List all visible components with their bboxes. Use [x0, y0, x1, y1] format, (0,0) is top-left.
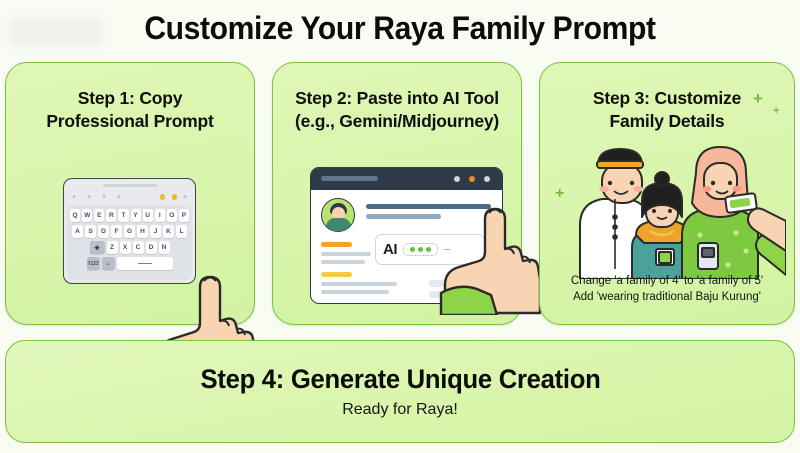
key-o[interactable]: O [167, 209, 177, 222]
step-card-3-caption: Change 'a family of 4' to 'a family of 5… [546, 273, 788, 306]
key-z[interactable]: Z [107, 241, 118, 254]
text-line-4 [321, 290, 389, 294]
sparkle-icon-2: + [773, 105, 779, 117]
key-g[interactable]: G [124, 225, 135, 238]
toolbar-plus-icon-2: + [87, 195, 92, 200]
avatar-body [326, 218, 351, 231]
sparkle-icon-1: + [753, 89, 763, 109]
mother-figure [682, 147, 758, 279]
key-e[interactable]: E [94, 209, 104, 222]
window-close-dot[interactable] [484, 176, 490, 182]
key-d2[interactable]: D [146, 241, 157, 254]
step-card-1-title: Step 1: Copy Professional Prompt [14, 87, 246, 133]
key-t[interactable]: T [118, 209, 128, 222]
browser-titlebar [311, 168, 502, 190]
text-line-3 [321, 282, 397, 286]
toolbar-yellow-dot-2 [172, 194, 178, 200]
toolbar-plus-icon-3: + [102, 195, 107, 200]
family-illustration [550, 139, 786, 279]
key-s[interactable]: S [85, 225, 96, 238]
step-card-3-title-line1: Step 3: Customize [593, 88, 741, 108]
key-n[interactable]: N [159, 241, 170, 254]
keyboard-row-2: A S D F G H J K L [70, 225, 189, 238]
toolbar-plus-icon-4: + [117, 195, 122, 200]
caption-line-2: Add 'wearing traditional Baju Kurung' [573, 291, 761, 303]
key-i[interactable]: I [155, 209, 165, 222]
browser-url-bar[interactable] [321, 176, 378, 181]
step-card-2[interactable]: Step 2: Paste into AI Tool (e.g., Gemini… [272, 62, 522, 325]
key-d[interactable]: D [98, 225, 109, 238]
step-4-title: Step 4: Generate Unique Creation [200, 364, 600, 395]
step-card-3-title: Step 3: Customize Family Details [548, 87, 786, 133]
pointing-hand-illustration-2 [421, 203, 541, 315]
steps-card-row: Step 1: Copy Professional Prompt + + + +… [0, 62, 800, 326]
phone [698, 243, 718, 269]
infographic-page: Customize Your Raya Family Prompt Step 1… [0, 0, 800, 453]
caption-line-1: Change 'a family of 4' to 'a family of 5… [571, 275, 763, 287]
key-u[interactable]: U [143, 209, 153, 222]
keyboard-row-1: Q W E R T Y U I O P [70, 209, 189, 222]
step-4-subtitle: Ready for Raya! [342, 401, 458, 419]
step-card-2-title: Step 2: Paste into AI Tool (e.g., Gemini… [281, 87, 513, 133]
step-card-1-title-line2: Professional Prompt [46, 111, 213, 131]
sparkle-icon-3: + [555, 185, 564, 203]
text-line-2 [321, 260, 365, 264]
accent-bar-yellow [321, 272, 352, 277]
toolbar-yellow-dot-1 [160, 194, 166, 200]
key-y[interactable]: Y [131, 209, 141, 222]
tablet-speaker [103, 184, 157, 187]
toolbar-plus-icon-1: + [72, 195, 77, 200]
key-c[interactable]: C [133, 241, 144, 254]
key-j[interactable]: J [150, 225, 161, 238]
key-r[interactable]: R [106, 209, 116, 222]
keyboard-toolbar: + + + + + [70, 192, 189, 202]
loading-dot-1 [410, 247, 415, 252]
keyboard-row-3: ❖ Z X C D N [70, 241, 189, 254]
step-card-1[interactable]: Step 1: Copy Professional Prompt + + + +… [5, 62, 255, 325]
step-4-banner[interactable]: Step 4: Generate Unique Creation Ready f… [5, 340, 795, 443]
emoji-icon[interactable]: ☺ [102, 257, 115, 270]
page-title: Customize Your Raya Family Prompt [24, 10, 776, 47]
cup [656, 249, 674, 265]
key-f[interactable]: F [111, 225, 122, 238]
numeric-key[interactable]: ?123 [87, 257, 100, 270]
window-minimize-dot[interactable] [454, 176, 460, 182]
avatar [321, 198, 355, 232]
step-card-1-title-line1: Step 1: Copy [78, 88, 183, 108]
window-maximize-dot[interactable] [469, 176, 475, 182]
key-l[interactable]: L [176, 225, 187, 238]
key-q[interactable]: Q [70, 209, 80, 222]
step-card-3[interactable]: Step 3: Customize Family Details [539, 62, 795, 325]
accent-bar-orange [321, 242, 352, 247]
shift-key[interactable]: ❖ [90, 241, 105, 254]
key-w[interactable]: W [82, 209, 92, 222]
text-line-1 [321, 252, 371, 256]
toolbar-plus-icon-5: + [183, 195, 188, 200]
step-card-2-title-line2: (e.g., Gemini/Midjourney) [295, 111, 499, 131]
step-card-3-title-line2: Family Details [610, 111, 725, 131]
key-a[interactable]: A [72, 225, 83, 238]
step-card-2-title-line1: Step 2: Paste into AI Tool [295, 88, 499, 108]
key-h[interactable]: H [137, 225, 148, 238]
ai-label: AI [383, 241, 397, 258]
key-k[interactable]: K [163, 225, 174, 238]
key-x[interactable]: X [120, 241, 131, 254]
key-p[interactable]: P [179, 209, 189, 222]
